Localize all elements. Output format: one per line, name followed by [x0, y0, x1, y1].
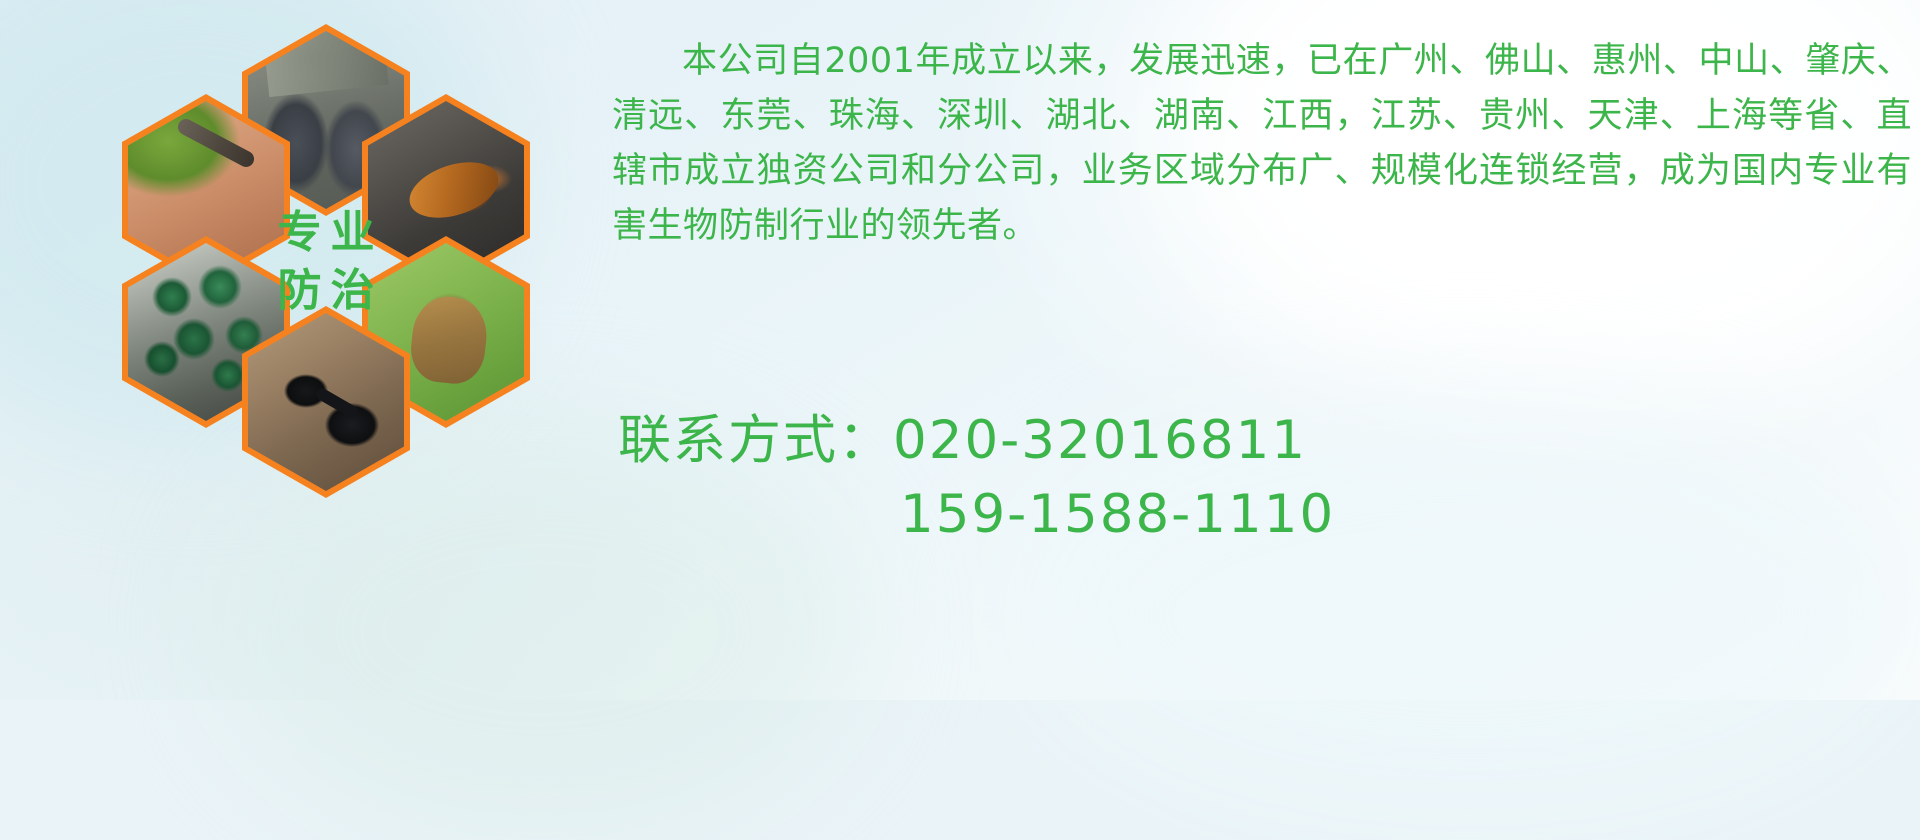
- banner-root: 专业 防治 本公司自2001年成立以来，发展迅速，已在广州、佛山、惠州、中山、肇…: [0, 0, 1920, 700]
- badge-text: 专业 防治: [242, 166, 410, 358]
- badge-line-1: 专业: [269, 211, 384, 255]
- contact-line-primary[interactable]: 联系方式：020-32016811: [618, 404, 1918, 478]
- intro-paragraph: 本公司自2001年成立以来，发展迅速，已在广州、佛山、惠州、中山、肇庆、清远、东…: [612, 34, 1912, 254]
- contact-block: 联系方式：020-32016811 159-1588-1110: [618, 404, 1918, 552]
- intro-copy: 本公司自2001年成立以来，发展迅速，已在广州、佛山、惠州、中山、肇庆、清远、东…: [612, 34, 1912, 254]
- contact-line-secondary[interactable]: 159-1588-1110: [618, 478, 1918, 552]
- hexagon-cluster: 专业 防治: [92, 14, 592, 554]
- badge-line-2: 防治: [269, 269, 384, 313]
